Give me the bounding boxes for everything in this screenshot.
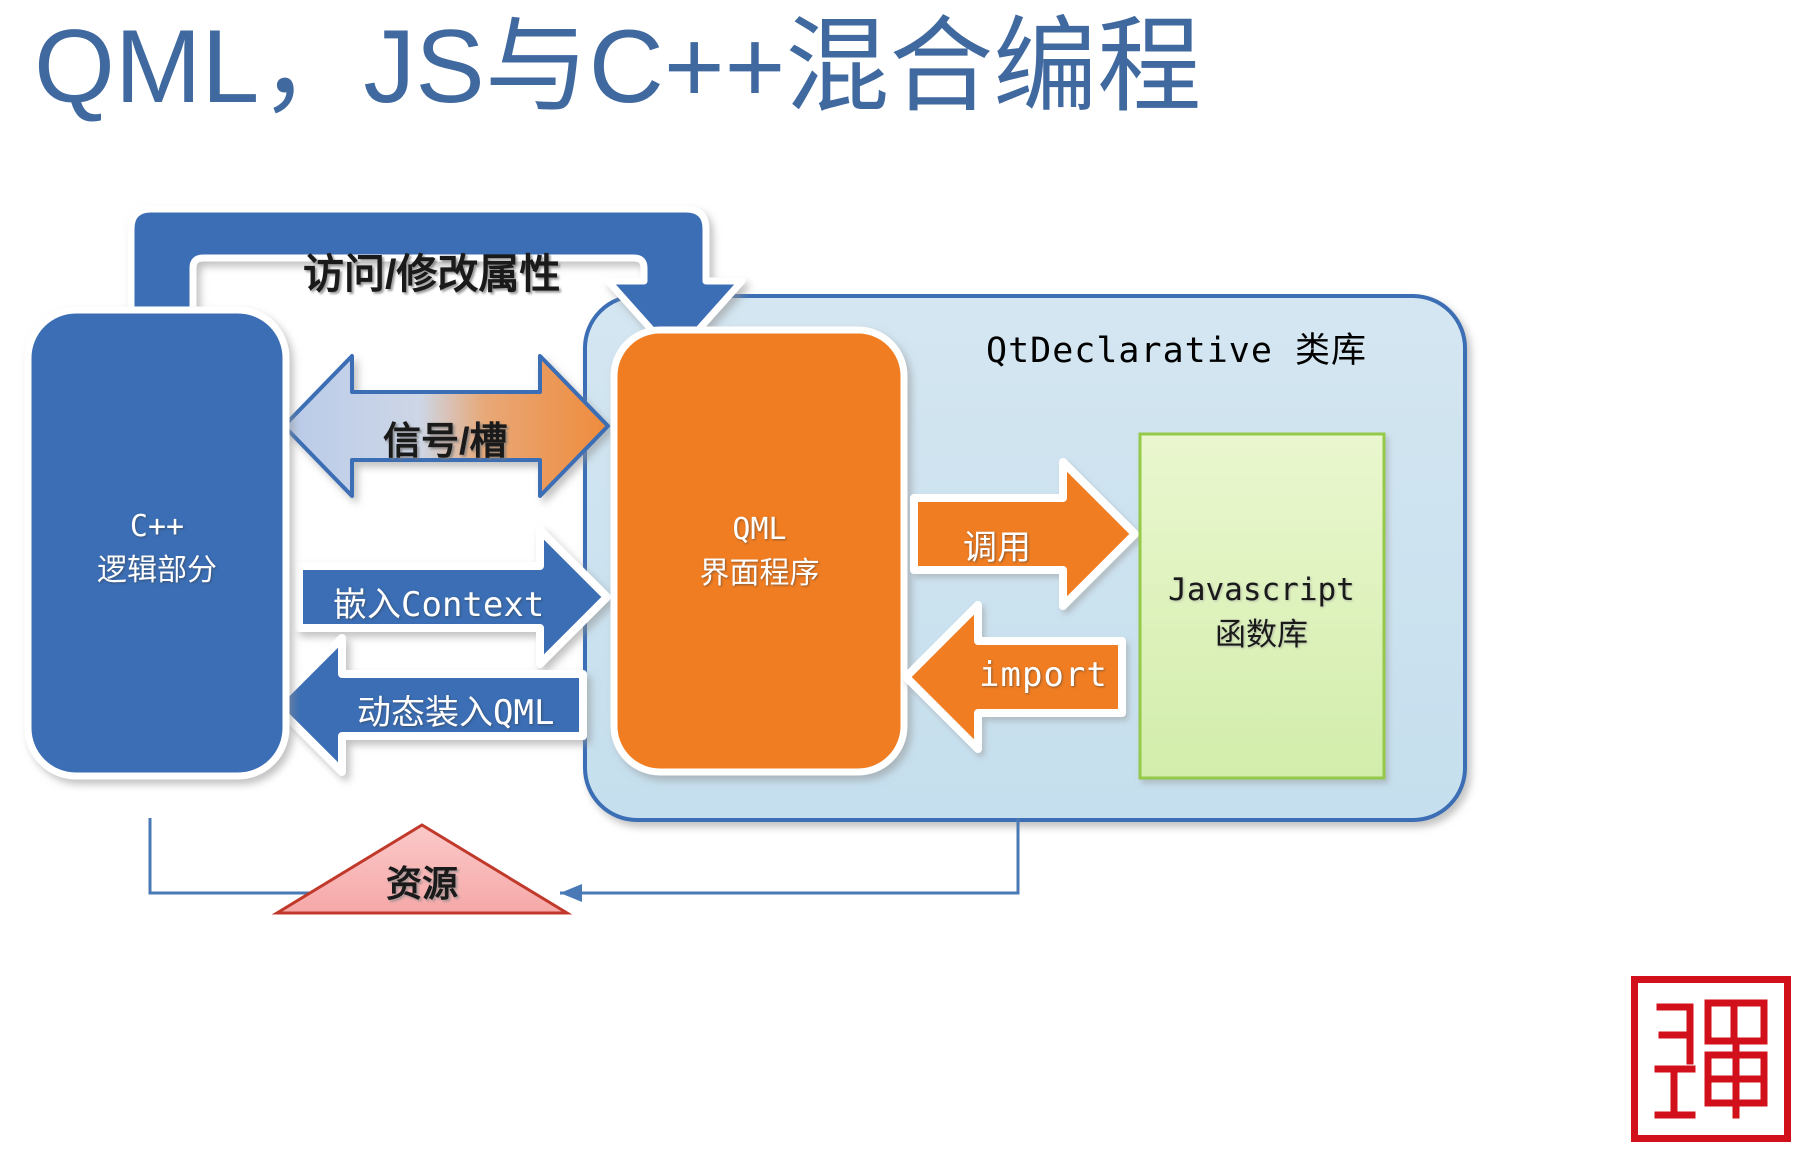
signal-slot-arrow [284,356,608,496]
red-seal-stamp [1631,976,1791,1142]
architecture-diagram: 访问/修改属性 信号/槽 QtDeclarative 类库 C++逻辑部分 QM… [0,0,1794,1152]
seal-glyph [1658,1003,1764,1115]
cpp-box [28,310,286,776]
resource-triangle [277,825,567,919]
resource-connector-lines [150,818,1018,893]
qml-box [614,330,904,772]
javascript-box [1140,434,1384,778]
